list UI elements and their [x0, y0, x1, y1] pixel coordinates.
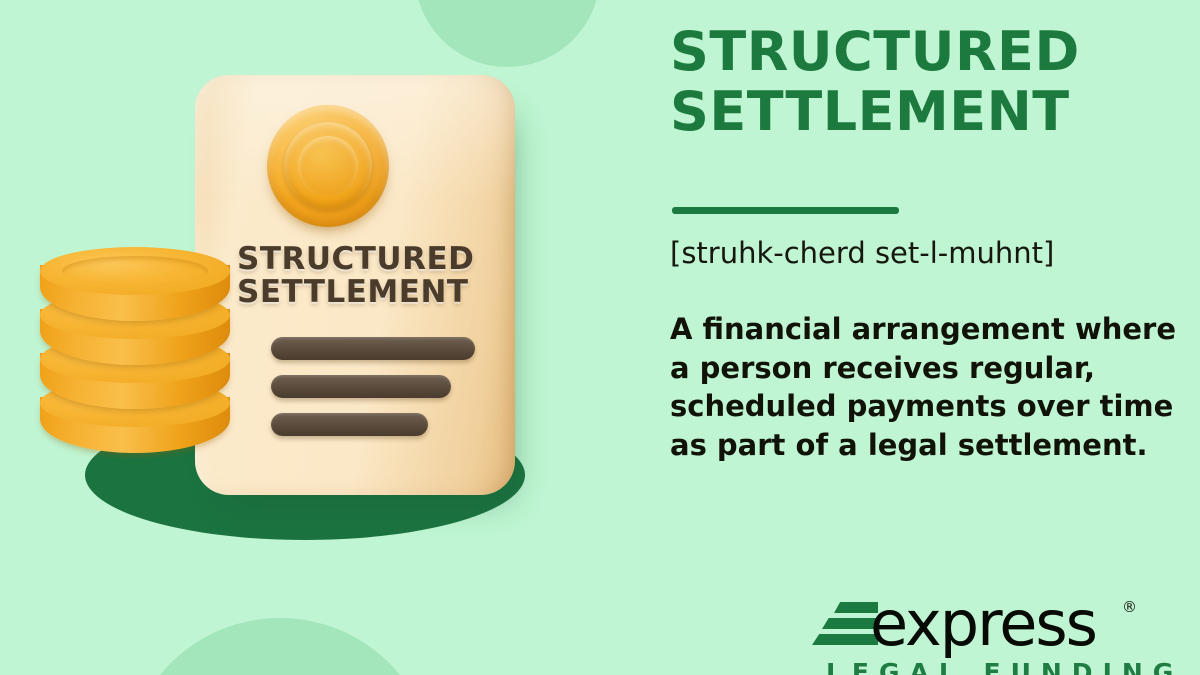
wax-seal-icon: [267, 105, 389, 227]
logo-tagline: LEGAL FUNDING: [826, 658, 1183, 675]
document-text-line: [271, 337, 475, 360]
logo-bar: [812, 634, 878, 645]
document-text-line: [271, 413, 428, 436]
document-caption: STRUCTURED SETTLEMENT: [237, 243, 477, 308]
definition-panel: STRUCTURED SETTLEMENT [struhk-cherd set-…: [670, 0, 1130, 675]
definition-text: A financial arrangement where a person r…: [670, 310, 1185, 464]
express-legal-funding-logo[interactable]: express ® LEGAL FUNDING: [812, 596, 1192, 675]
document-card: STRUCTURED SETTLEMENT: [195, 75, 515, 495]
coin: [40, 247, 230, 321]
seal-core: [298, 136, 358, 196]
decorative-circle-bottom: [125, 618, 435, 675]
pronunciation-text: [struhk-cherd set-l-muhnt]: [670, 236, 1170, 271]
document-text-line: [271, 375, 451, 398]
speed-lines-icon: [812, 602, 878, 646]
page-title: STRUCTURED SETTLEMENT: [670, 22, 1120, 142]
structured-settlement-illustration: STRUCTURED SETTLEMENT: [40, 55, 560, 525]
logo-wordmark: express: [870, 593, 1096, 655]
coin-top: [40, 247, 230, 295]
title-divider: [672, 207, 899, 214]
seal-ring: [284, 122, 372, 210]
registered-trademark-icon: ®: [1122, 598, 1137, 616]
